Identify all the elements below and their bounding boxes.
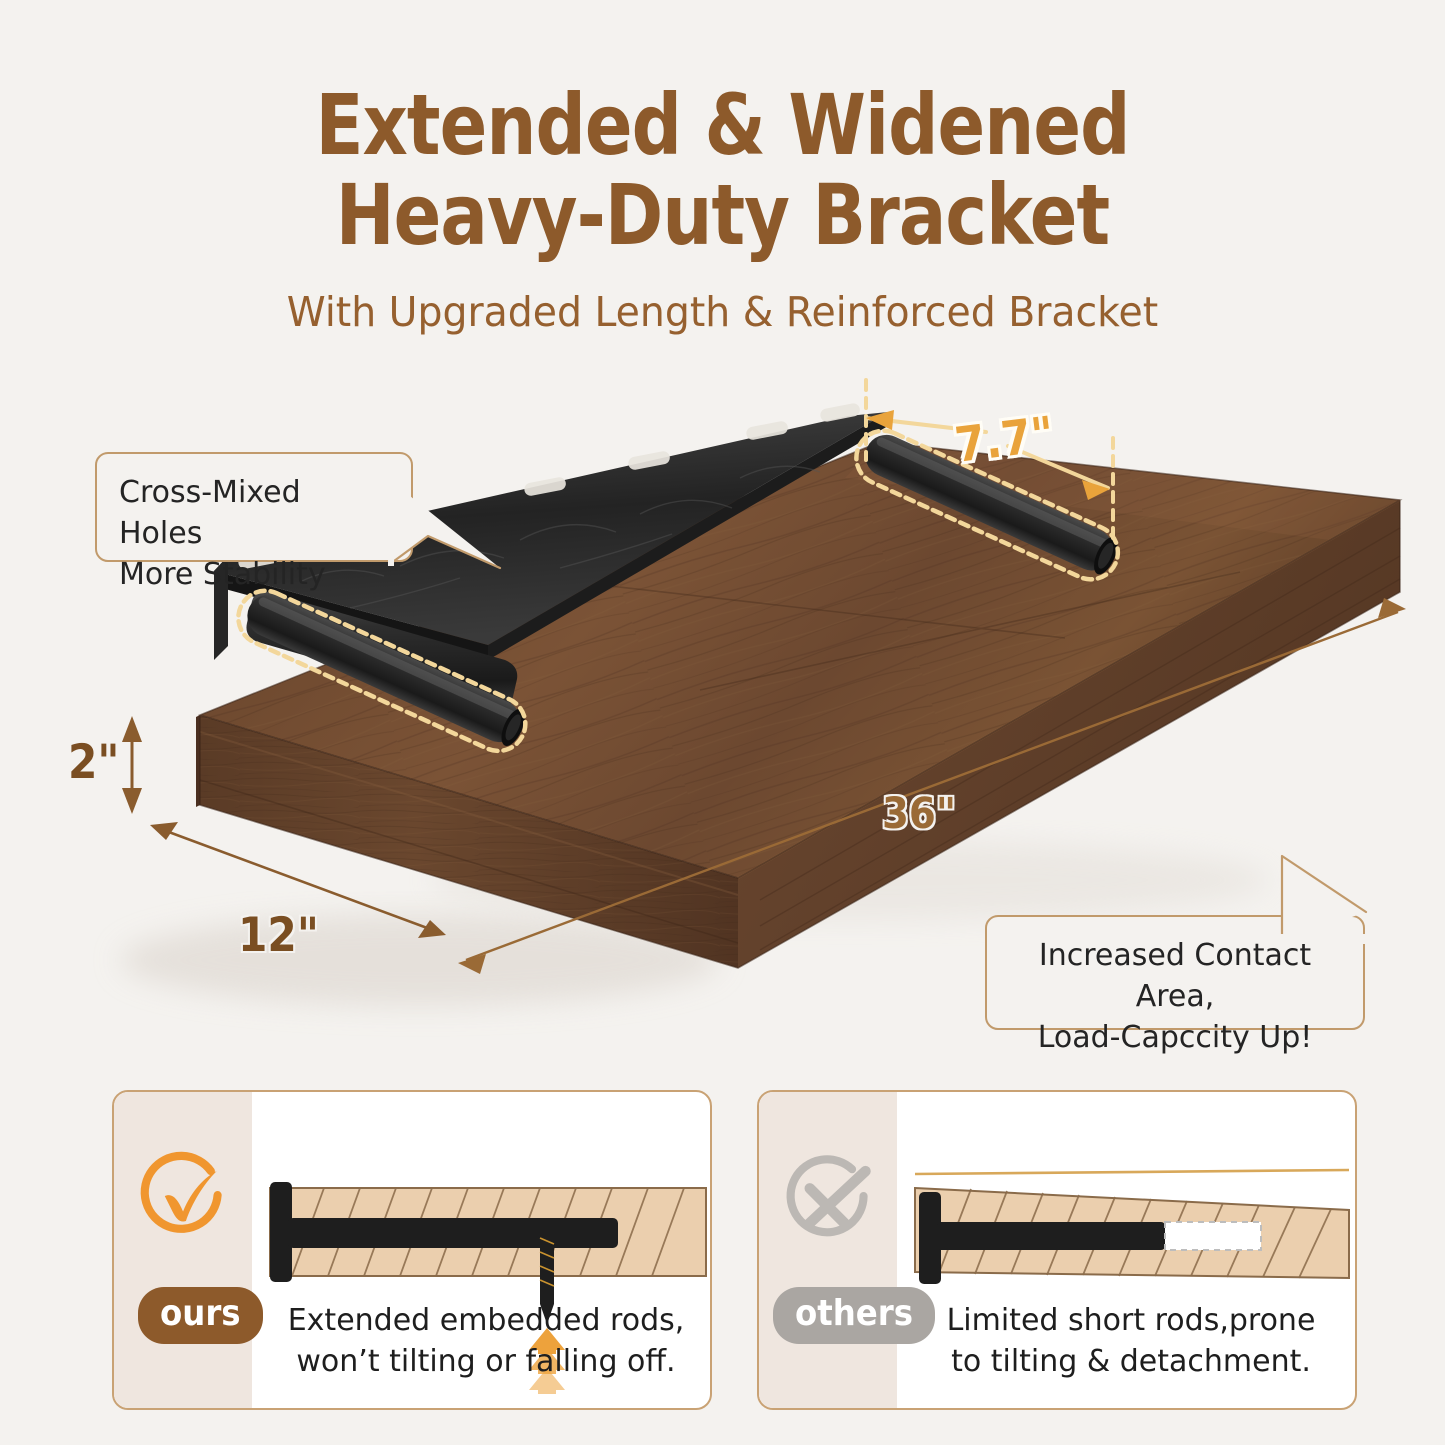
infographic-root: Extended & Widened Heavy-Duty Bracket Wi… [0,0,1445,1445]
callout-load-line-2: Load-Capccity Up! [1007,1017,1343,1058]
callout-holes-line-2: More Stability [119,554,391,595]
others-caption-line-1: Limited short rods,prone [911,1300,1351,1341]
others-caption-line-2: to tilting & detachment. [911,1341,1351,1382]
dimension-label-length: 36" [882,789,956,839]
others-level-line [915,1170,1349,1174]
panel-others-sidebar [759,1092,897,1408]
x-circle-icon [781,1150,877,1246]
comparison-panel-others: others [757,1090,1357,1410]
check-circle-icon [136,1150,232,1246]
ours-caption: Extended embedded rods, won’t tilting or… [266,1300,706,1382]
badge-ours: ours [138,1287,263,1344]
ours-caption-line-1: Extended embedded rods, [266,1300,706,1341]
dimension-label-thickness: 2" [68,735,119,790]
title-line-1: Extended & Widened [51,78,1395,172]
title-line-2: Heavy-Duty Bracket [51,168,1395,262]
dimension-label-rod-length: 7.7" [952,406,1057,474]
subtitle: With Upgraded Length & Reinforced Bracke… [29,288,1416,336]
others-void-gap [1165,1222,1261,1250]
dimension-label-depth: 12" [238,908,319,963]
callout-cross-mixed-holes: Cross-Mixed Holes More Stability [95,452,413,562]
callout-increased-contact-area: Increased Contact Area, Load-Capccity Up… [985,915,1365,1030]
callout-load-line-1: Increased Contact Area, [1007,935,1343,1017]
others-caption: Limited short rods,prone to tilting & de… [911,1300,1351,1382]
comparison-panel-ours: ours [112,1090,712,1410]
panel-ours-sidebar [114,1092,252,1408]
callout-holes-line-1: Cross-Mixed Holes [119,472,391,554]
ours-caption-line-2: won’t tilting or falling off. [266,1341,706,1382]
